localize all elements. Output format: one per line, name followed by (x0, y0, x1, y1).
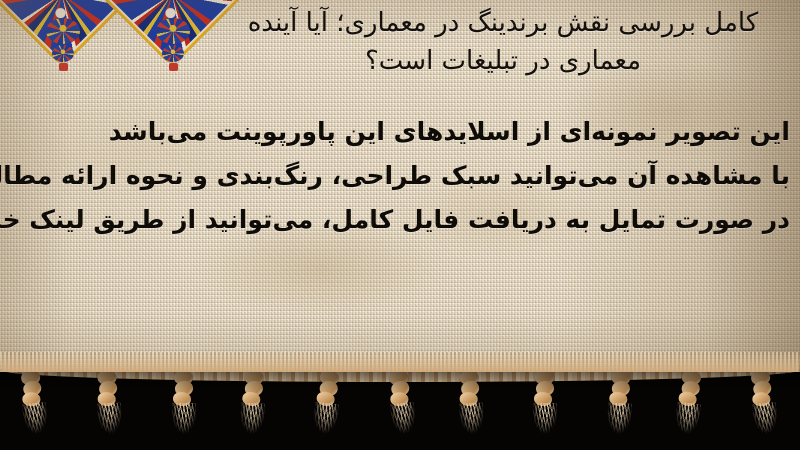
tassel-brush (97, 402, 123, 441)
slide-title-line-2: معماری در تبلیغات است؟ (220, 42, 786, 80)
fringe-tassel (532, 372, 558, 442)
slide-title: کامل بررسی نقش برندینگ در معماری؛ آیا آی… (220, 4, 786, 80)
tassel-brush (22, 402, 50, 442)
fringe-tassel (310, 372, 344, 443)
fringe-tassel (672, 372, 706, 443)
tassel-brush (673, 402, 701, 442)
fringe-tassel (605, 372, 635, 443)
fringe-tassel (18, 372, 52, 443)
fringe-tassel (171, 372, 197, 442)
tassel-brush (533, 403, 557, 441)
fringe-tassel (456, 372, 486, 443)
slide-body-line-2: با مشاهده آن می‌توانید سبک طراحی، رنگ‌بن… (6, 154, 790, 198)
presentation-slide: کامل بررسی نقش برندینگ در معماری؛ آیا آی… (0, 0, 800, 450)
fringe-tassel (747, 372, 781, 443)
slide-body-line-1: این تصویر نمونه‌ای از اسلایدهای این پاور… (6, 110, 790, 154)
slide-title-line-1: کامل بررسی نقش برندینگ در معماری؛ آیا آی… (220, 4, 786, 42)
slide-body-line-3: در صورت تمایل به دریافت فایل کامل، می‌تو… (6, 198, 790, 242)
tassel-brush (172, 403, 196, 441)
fringe-tassel (238, 372, 268, 443)
slide-body-text: این تصویر نمونه‌ای از اسلایدهای این پاور… (6, 110, 790, 242)
tassel-brush (606, 402, 632, 441)
tassel-brush (751, 402, 779, 442)
tassel-brush (459, 402, 485, 441)
fringe-tassel (94, 372, 124, 443)
carpet-fringe-area (0, 372, 800, 450)
tassel-brush (312, 402, 340, 442)
fringe-tassel (385, 372, 419, 443)
tassel-brush (239, 402, 265, 441)
tassel-brush (390, 402, 418, 442)
